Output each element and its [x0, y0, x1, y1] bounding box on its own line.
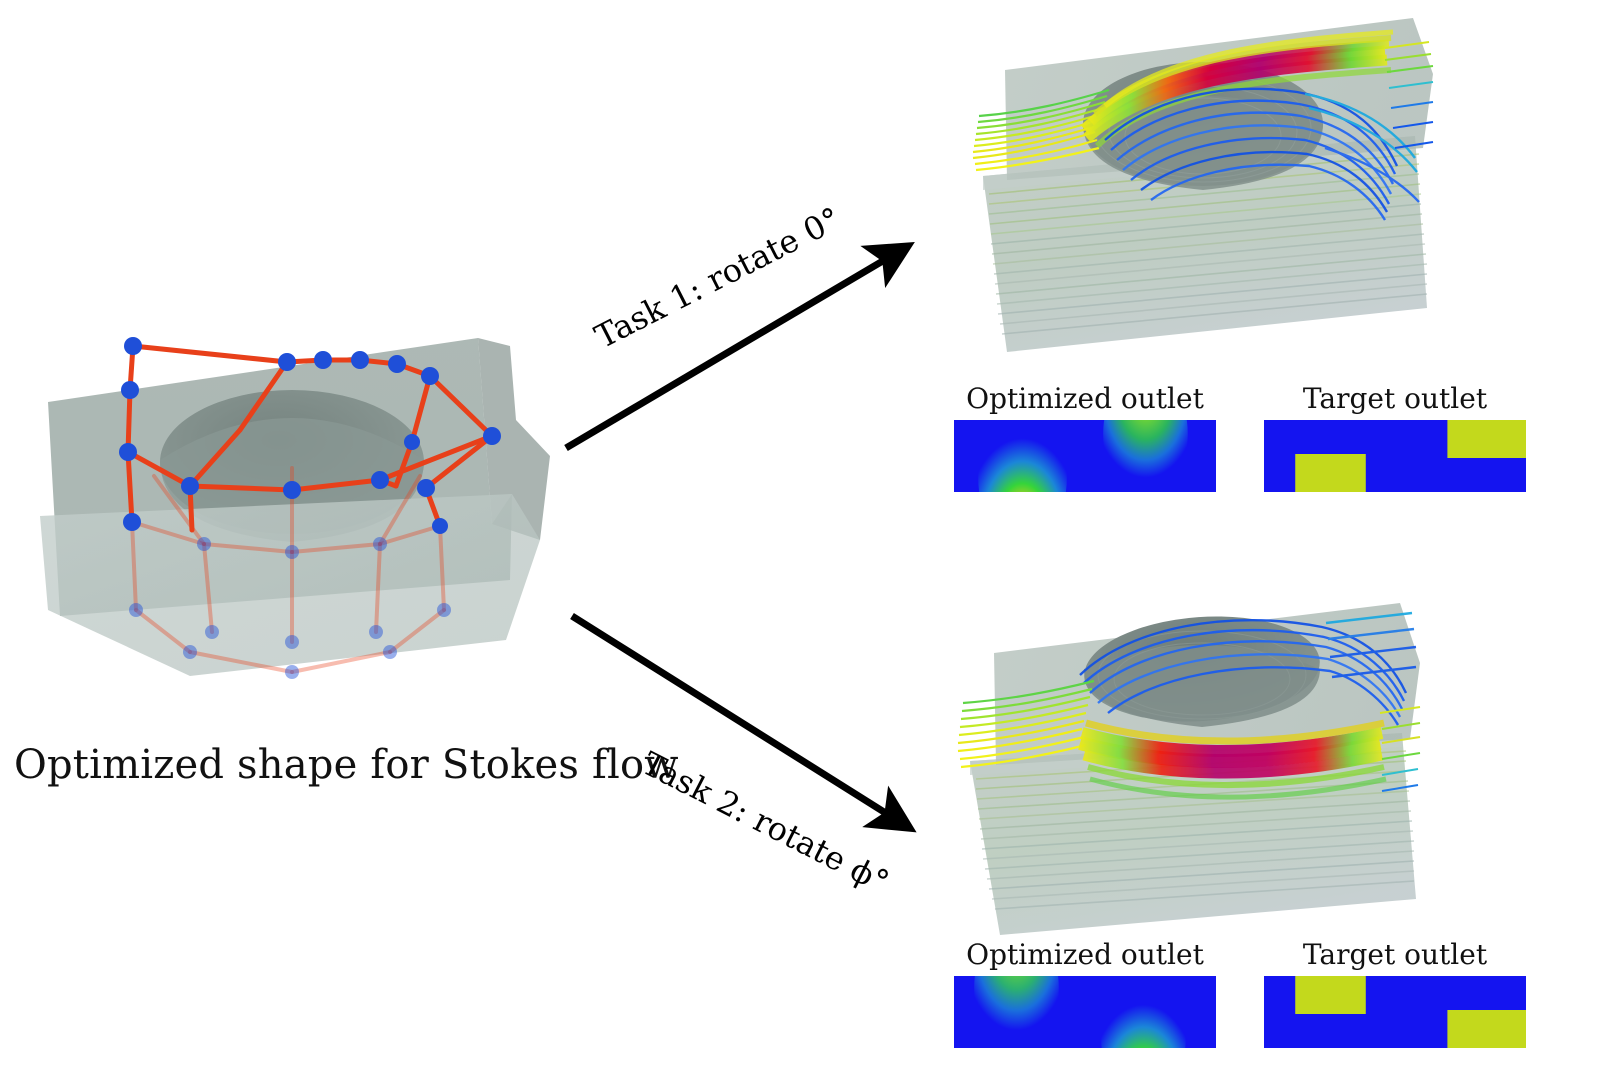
page-title: Optimized shape for Stokes flow [14, 742, 714, 788]
target-outlet-task-2: Target outlet [1250, 938, 1540, 1048]
optimized-outlet-heatmap [954, 976, 1216, 1048]
optimized-outlet-label: Optimized outlet [940, 938, 1230, 972]
outlet-comparison-task-2: Optimized outlet [940, 938, 1500, 1053]
optimized-outlet-label: Optimized outlet [940, 382, 1230, 416]
target-outlet-label: Target outlet [1250, 382, 1540, 416]
figure-root: Optimized shape for Stokes flow Task 1: … [0, 0, 1620, 1080]
target-outlet-task-1: Target outlet [1250, 382, 1540, 492]
target-outlet-mask [1264, 420, 1526, 492]
target-outlet-mask [1264, 976, 1526, 1048]
flow-visualization-task-1 [945, 8, 1445, 383]
optimized-outlet-task-1: Optimized outlet [940, 382, 1230, 492]
outlet-comparison-task-1: Optimized outlet [940, 382, 1500, 497]
optimized-shape-view [40, 280, 600, 700]
optimized-outlet-heatmap [954, 420, 1216, 492]
optimized-outlet-task-2: Optimized outlet [940, 938, 1230, 1048]
target-outlet-label: Target outlet [1250, 938, 1540, 972]
flow-visualization-task-2 [930, 583, 1430, 958]
arrow-task-2-label: Task 2: rotate ϕ° [636, 744, 895, 901]
arrow-task-1-label: Task 1: rotate 0° [589, 200, 847, 356]
